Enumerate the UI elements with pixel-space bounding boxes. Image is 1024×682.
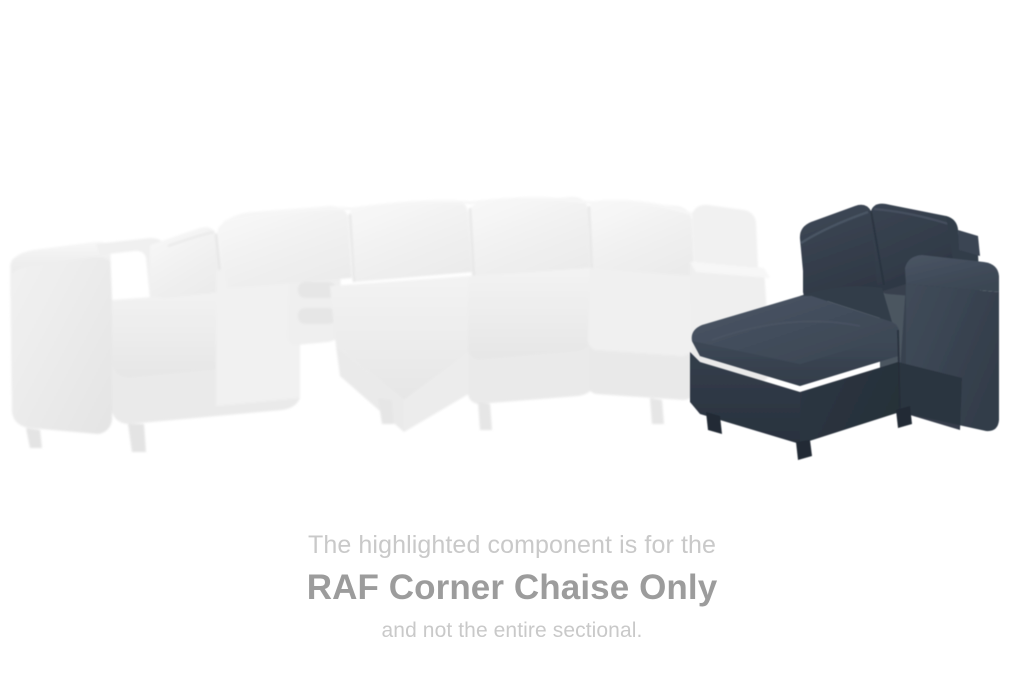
- caption-lead-text: The highlighted component is for the: [0, 528, 1024, 562]
- caption-component-name: RAF Corner Chaise Only: [0, 564, 1024, 612]
- component-caption: The highlighted component is for the RAF…: [0, 528, 1024, 646]
- ghost-piece-corner-wedge: [330, 276, 472, 432]
- product-image-canvas: The highlighted component is for the RAF…: [0, 0, 1024, 682]
- cupholder-lower: [298, 308, 336, 324]
- sectional-illustration: [0, 0, 1024, 500]
- caption-disclaimer-text: and not the entire sectional.: [0, 616, 1024, 646]
- chaise-foot-front: [796, 440, 812, 460]
- ghosted-sectional-group: [10, 197, 770, 452]
- cupholder-upper: [298, 282, 336, 298]
